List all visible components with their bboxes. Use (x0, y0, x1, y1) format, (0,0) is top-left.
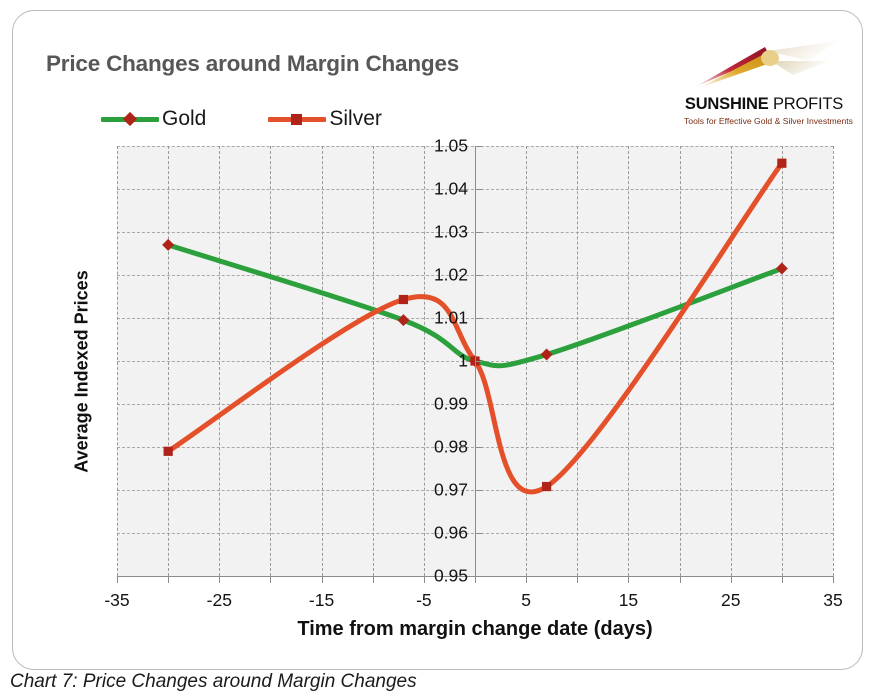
x-axis-tick (526, 576, 527, 583)
x-axis-tick (373, 576, 374, 583)
y-axis-tick (475, 576, 482, 577)
x-axis-tick (117, 576, 118, 583)
x-axis-tick (680, 576, 681, 583)
chart-card: Price Changes around Margin Changes Gold… (12, 10, 863, 670)
legend-swatch-gold (101, 111, 159, 127)
y-axis-title: Average Indexed Prices (72, 242, 93, 502)
x-axis-tick (270, 576, 271, 583)
x-axis-tick-label: -35 (104, 590, 129, 611)
y-axis-tick-label: 0.96 (413, 523, 468, 544)
y-axis-tick (475, 189, 482, 190)
figure-caption: Chart 7: Price Changes around Margin Cha… (10, 671, 417, 693)
legend-marker-square-icon (291, 114, 302, 125)
data-point-gold[interactable] (162, 239, 174, 251)
legend-marker-diamond-icon (123, 112, 137, 126)
data-point-silver[interactable] (777, 159, 786, 168)
legend-label-gold: Gold (162, 107, 206, 131)
x-axis-tick-label: 35 (823, 590, 842, 611)
x-axis-tick (219, 576, 220, 583)
data-point-gold[interactable] (541, 349, 553, 361)
y-axis-tick (475, 490, 482, 491)
legend-item-silver[interactable]: Silver (268, 107, 382, 131)
x-axis-tick (322, 576, 323, 583)
y-axis-tick (475, 447, 482, 448)
y-axis-tick (475, 318, 482, 319)
screenshot-root: Price Changes around Margin Changes Gold… (0, 0, 875, 700)
x-axis-tick (731, 576, 732, 583)
x-axis-tick-label: 15 (619, 590, 638, 611)
sunburst-rays-icon (689, 39, 843, 91)
logo-wordmark: SUNSHINE PROFITS Tools for Effective Gol… (684, 95, 844, 126)
y-axis-tick (475, 533, 482, 534)
y-axis-tick (475, 361, 482, 362)
logo-tagline: Tools for Effective Gold & Silver Invest… (684, 116, 844, 126)
x-axis-tick-label: -15 (309, 590, 334, 611)
x-axis-tick-label: 25 (721, 590, 740, 611)
y-axis-tick (475, 232, 482, 233)
y-axis-tick-label: 1.01 (413, 308, 468, 329)
y-axis-tick-label: 0.98 (413, 437, 468, 458)
x-axis-tick (833, 576, 834, 583)
x-axis-tick (782, 576, 783, 583)
data-point-silver[interactable] (164, 447, 173, 456)
legend-swatch-silver (268, 111, 326, 127)
sunshine-profits-logo: SUNSHINE PROFITS Tools for Effective Gol… (681, 39, 843, 127)
legend-item-gold[interactable]: Gold (101, 107, 206, 131)
chart-title: Price Changes around Margin Changes (46, 51, 459, 77)
data-point-silver[interactable] (399, 295, 408, 304)
logo-name-light: PROFITS (769, 95, 844, 113)
y-axis-tick-label: 0.97 (413, 480, 468, 501)
data-point-silver[interactable] (542, 482, 551, 491)
y-axis-tick (475, 275, 482, 276)
y-axis-tick (475, 146, 482, 147)
y-axis-tick (475, 404, 482, 405)
y-axis-tick-label: 1.05 (413, 136, 468, 157)
y-axis-tick-label: 0.95 (413, 566, 468, 587)
logo-name-bold: SUNSHINE (685, 95, 769, 113)
x-axis-tick (168, 576, 169, 583)
x-axis-tick-label: -25 (207, 590, 232, 611)
y-axis-tick-label: 1 (413, 351, 468, 372)
legend-label-silver: Silver (329, 107, 382, 131)
x-axis-tick (628, 576, 629, 583)
x-axis-tick (577, 576, 578, 583)
y-axis-tick-label: 1.03 (413, 222, 468, 243)
x-axis-title: Time from margin change date (days) (117, 618, 833, 641)
y-axis-tick-label: 0.99 (413, 394, 468, 415)
y-axis-tick-label: 1.04 (413, 179, 468, 200)
y-axis-tick-label: 1.02 (413, 265, 468, 286)
x-axis-tick-label: 5 (521, 590, 531, 611)
x-axis-tick (475, 576, 476, 583)
x-axis-tick-label: -5 (416, 590, 432, 611)
gridline-vertical (833, 146, 834, 576)
chart-legend: Gold Silver (101, 107, 444, 131)
